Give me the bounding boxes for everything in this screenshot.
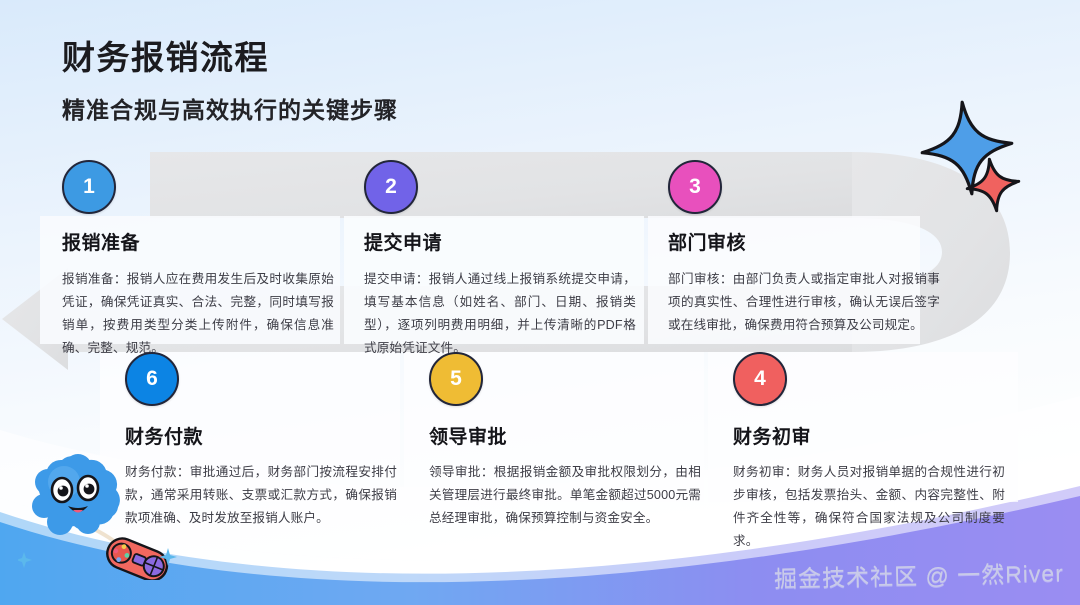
small-sparkle-icon	[18, 552, 32, 568]
step-5-title: 领导审批	[429, 422, 701, 449]
step-5-description: 领导审批：根据报销金额及审批权限划分，由相关管理层进行最终审批。单笔金额超过50…	[429, 461, 701, 530]
header: 财务报销流程 精准合规与高效执行的关键步骤	[62, 38, 398, 124]
step-4-title: 财务初审	[733, 422, 1005, 449]
step-2[interactable]: 2 提交申请 提交申请：报销人通过线上报销系统提交申请，填写基本信息（如姓名、部…	[364, 160, 636, 360]
step-3-description: 部门审核：由部门负责人或指定审批人对报销事项的真实性、合理性进行审核，确认无误后…	[668, 268, 940, 337]
step-4[interactable]: 4 财务初审 财务初审：财务人员对报销单据的合规性进行初步审核，包括发票抬头、金…	[733, 352, 1005, 553]
step-2-description: 提交申请：报销人通过线上报销系统提交申请，填写基本信息（如姓名、部门、日期、报销…	[364, 268, 636, 360]
step-1-badge: 1	[62, 160, 116, 214]
step-3-title: 部门审核	[668, 228, 940, 255]
step-6-badge: 6	[125, 352, 179, 406]
step-1[interactable]: 1 报销准备 报销准备：报销人应在费用发生后及时收集原始凭证，确保凭证真实、合法…	[62, 160, 334, 360]
step-1-description: 报销准备：报销人应在费用发生后及时收集原始凭证，确保凭证真实、合法、完整，同时填…	[62, 268, 334, 360]
step-2-badge: 2	[364, 160, 418, 214]
step-5-badge: 5	[429, 352, 483, 406]
step-3-badge: 3	[668, 160, 722, 214]
cloud-mascot-decoration	[18, 448, 188, 580]
step-3[interactable]: 3 部门审核 部门审核：由部门负责人或指定审批人对报销事项的真实性、合理性进行审…	[668, 160, 940, 337]
step-5[interactable]: 5 领导审批 领导审批：根据报销金额及审批权限划分，由相关管理层进行最终审批。单…	[429, 352, 701, 530]
page-subtitle: 精准合规与高效执行的关键步骤	[62, 97, 398, 125]
step-6-title: 财务付款	[125, 422, 397, 449]
step-2-title: 提交申请	[364, 228, 636, 255]
page-title: 财务报销流程	[62, 38, 398, 78]
cloud-body-icon	[32, 454, 120, 535]
sparkle-decoration	[912, 92, 1042, 218]
step-4-description: 财务初审：财务人员对报销单据的合规性进行初步审核，包括发票抬头、金额、内容完整性…	[733, 461, 1005, 553]
step-1-title: 报销准备	[62, 228, 334, 255]
watermark: 掘金技术社区 @ 一然River	[774, 554, 1064, 594]
step-4-badge: 4	[733, 352, 787, 406]
